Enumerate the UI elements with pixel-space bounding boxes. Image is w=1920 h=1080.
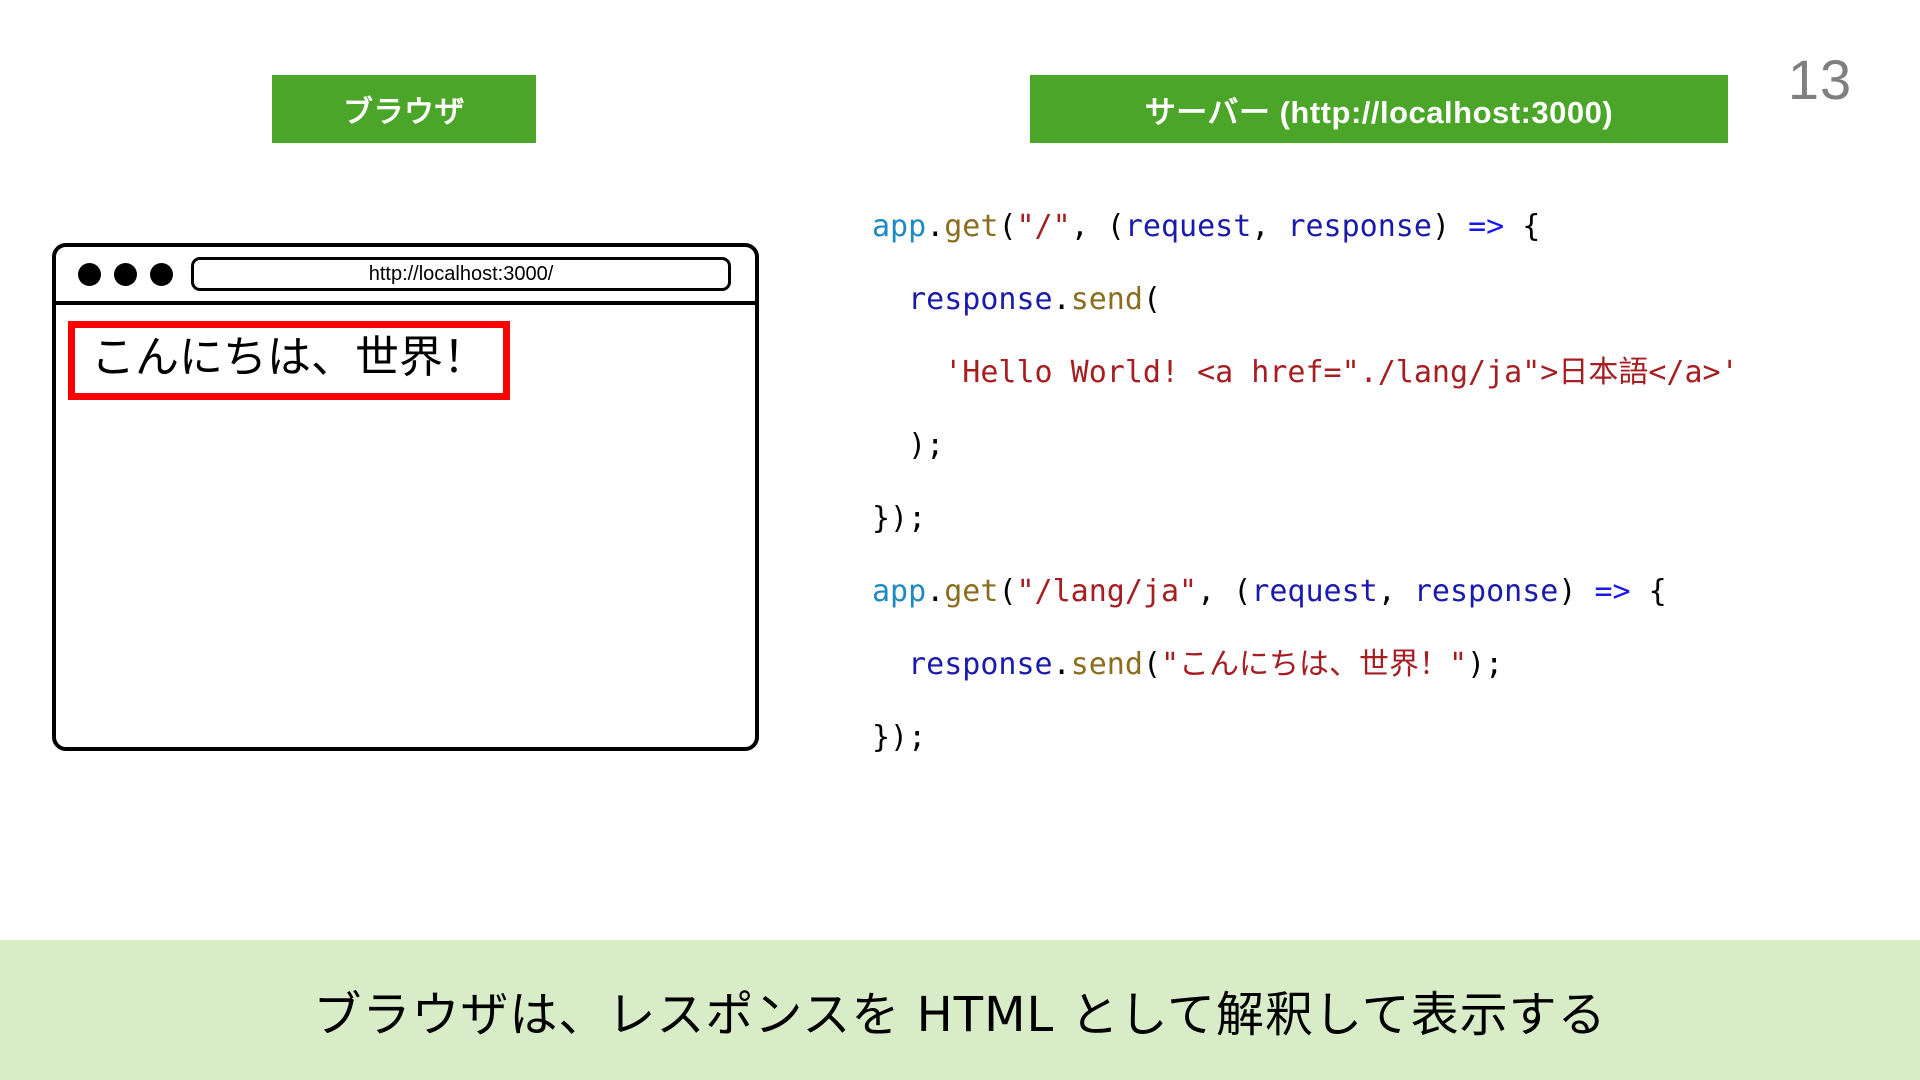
code-token-plain: ( bbox=[1143, 647, 1161, 682]
browser-viewport: こんにちは、世界！ bbox=[56, 305, 755, 743]
code-token-plain: ( bbox=[1143, 282, 1161, 317]
code-token-str: 'Hello World! <a href="./lang/ja">日本語</a… bbox=[944, 355, 1738, 390]
code-token-plain: , ( bbox=[1197, 574, 1251, 609]
code-token-method: send bbox=[1071, 282, 1143, 317]
code-token-arrow: => bbox=[1468, 209, 1504, 244]
code-token-plain: , bbox=[1378, 574, 1414, 609]
code-token-plain: ( bbox=[998, 574, 1016, 609]
code-token-plain bbox=[872, 282, 908, 317]
code-token-param: response bbox=[908, 282, 1053, 317]
traffic-light-dots bbox=[78, 263, 173, 286]
code-token-plain: . bbox=[926, 574, 944, 609]
code-token-param: response bbox=[908, 647, 1053, 682]
code-token-arrow: => bbox=[1595, 574, 1631, 609]
code-token-obj: app bbox=[872, 209, 926, 244]
code-token-method: get bbox=[944, 574, 998, 609]
minimize-dot-icon[interactable] bbox=[114, 263, 137, 286]
code-token-plain: , ( bbox=[1071, 209, 1125, 244]
code-listing: app.get("/", (request, response) => { re… bbox=[872, 190, 1882, 774]
highlight-box: こんにちは、世界！ bbox=[68, 321, 510, 400]
code-token-plain: ) bbox=[1432, 209, 1468, 244]
code-token-plain: }); bbox=[872, 501, 926, 536]
code-line: }); bbox=[872, 701, 1882, 774]
code-token-plain: ) bbox=[1558, 574, 1594, 609]
close-dot-icon[interactable] bbox=[78, 263, 101, 286]
code-token-plain: { bbox=[1631, 574, 1667, 609]
code-token-param: response bbox=[1414, 574, 1559, 609]
code-token-plain: { bbox=[1504, 209, 1540, 244]
caption-bar: ブラウザは、レスポンスを HTML として解釈して表示する bbox=[0, 940, 1920, 1080]
code-token-str: "/" bbox=[1017, 209, 1071, 244]
code-line: }); bbox=[872, 482, 1882, 555]
code-line: app.get("/", (request, response) => { bbox=[872, 190, 1882, 263]
code-line: 'Hello World! <a href="./lang/ja">日本語</a… bbox=[872, 336, 1882, 409]
code-token-plain: , bbox=[1251, 209, 1287, 244]
browser-mockup: http://localhost:3000/ こんにちは、世界！ bbox=[52, 243, 759, 751]
code-token-plain: ( bbox=[998, 209, 1016, 244]
code-line: ); bbox=[872, 409, 1882, 482]
caption-text: ブラウザは、レスポンスを HTML として解釈して表示する bbox=[313, 975, 1606, 1045]
code-token-param: response bbox=[1287, 209, 1432, 244]
browser-chrome: http://localhost:3000/ bbox=[56, 247, 755, 305]
code-token-plain: }); bbox=[872, 720, 926, 755]
code-token-plain bbox=[872, 647, 908, 682]
code-token-plain: . bbox=[926, 209, 944, 244]
code-token-param: request bbox=[1251, 574, 1377, 609]
code-line: app.get("/lang/ja", (request, response) … bbox=[872, 555, 1882, 628]
code-token-plain: . bbox=[1053, 282, 1071, 317]
code-token-plain: ); bbox=[1467, 647, 1503, 682]
maximize-dot-icon[interactable] bbox=[150, 263, 173, 286]
code-token-obj: app bbox=[872, 574, 926, 609]
code-token-plain: ); bbox=[872, 428, 944, 463]
slide-root: 13 ブラウザ サーバー (http://localhost:3000) htt… bbox=[0, 0, 1920, 1080]
banner-server: サーバー (http://localhost:3000) bbox=[1030, 75, 1728, 143]
code-token-str: "こんにちは、世界！" bbox=[1161, 647, 1467, 682]
code-token-method: send bbox=[1071, 647, 1143, 682]
page-number: 13 bbox=[1760, 52, 1880, 108]
banner-browser: ブラウザ bbox=[272, 75, 536, 143]
url-input[interactable]: http://localhost:3000/ bbox=[191, 257, 731, 291]
code-token-param: request bbox=[1125, 209, 1251, 244]
rendered-page-text: こんにちは、世界！ bbox=[91, 330, 487, 385]
code-token-str: "/lang/ja" bbox=[1017, 574, 1198, 609]
code-token-method: get bbox=[944, 209, 998, 244]
code-line: response.send("こんにちは、世界！"); bbox=[872, 628, 1882, 701]
code-line: response.send( bbox=[872, 263, 1882, 336]
code-token-plain bbox=[872, 355, 944, 390]
code-token-plain: . bbox=[1053, 647, 1071, 682]
